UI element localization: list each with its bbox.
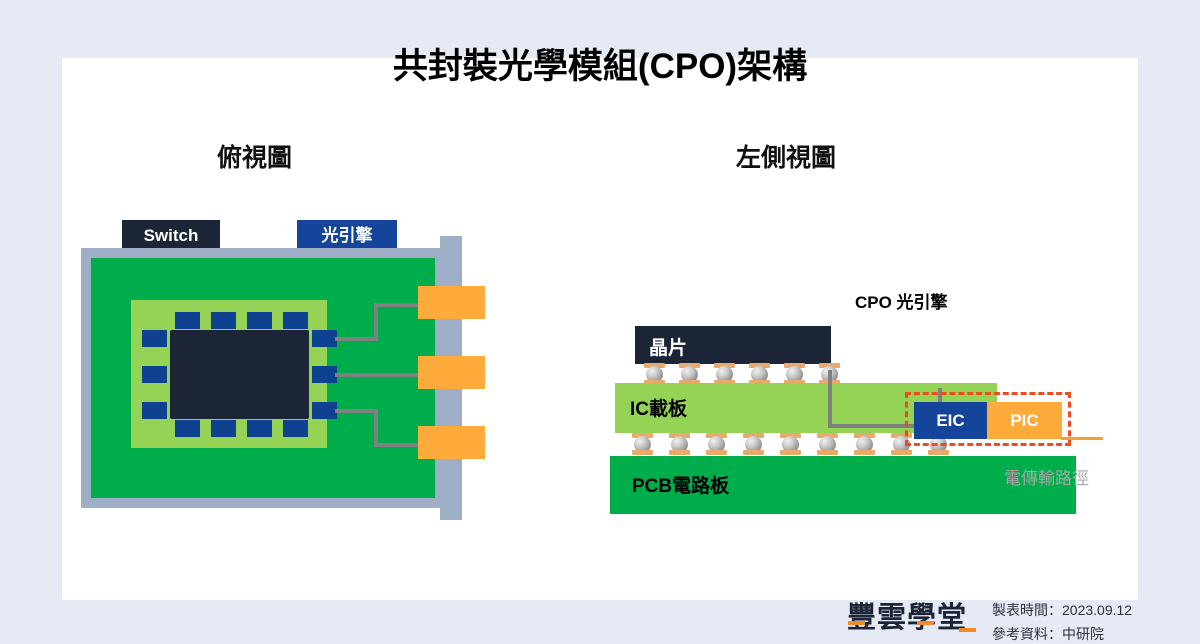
created-time-row: 製表時間：2023.09.12 [992, 600, 1132, 620]
bga-pad [142, 402, 167, 419]
created-time-value: 2023.09.12 [1062, 602, 1132, 618]
bga-pad [142, 366, 167, 383]
electrical-path-label: 電傳輸路徑 [1004, 464, 1089, 489]
solder-pad [817, 450, 838, 455]
solder-pad [891, 450, 912, 455]
top-view-title: 俯視圖 [217, 138, 292, 174]
solder-pad [706, 450, 727, 455]
brand-logo: 豐雲學堂 [847, 594, 967, 636]
optical-fiber-line [1061, 437, 1103, 440]
logo-accent-bar [917, 621, 934, 625]
electrical-trace [335, 373, 427, 377]
source-value: 中研院 [1062, 626, 1104, 642]
bga-pad [247, 420, 272, 437]
ic-substrate-label: IC載板 [630, 394, 687, 421]
side-view-title: 左側視圖 [736, 138, 836, 174]
bga-pad [211, 312, 236, 329]
eic-block: EIC [914, 402, 987, 439]
slide-card: 共封裝光學模組(CPO)架構 俯視圖 左側視圖 Switch 光引擎 [62, 58, 1138, 600]
bga-pad [312, 402, 337, 419]
optical-engine-block [418, 286, 485, 319]
page-title: 共封裝光學模組(CPO)架構 [62, 38, 1138, 89]
electrical-trace [335, 409, 378, 413]
solder-pad [854, 450, 875, 455]
optical-engine-block [418, 426, 485, 459]
bga-pad [175, 312, 200, 329]
switch-die [170, 330, 309, 419]
cpo-engine-caption: CPO 光引擎 [855, 288, 948, 313]
pic-block: PIC [987, 402, 1062, 439]
bga-pad [247, 312, 272, 329]
source-row: 參考資料：中研院 [992, 624, 1104, 644]
bga-pad [312, 366, 337, 383]
created-time-label: 製表時間： [992, 602, 1062, 618]
pcb-label: PCB電路板 [632, 471, 729, 498]
bga-pad [211, 420, 236, 437]
electrical-trace [374, 303, 378, 341]
bga-pad [312, 330, 337, 347]
solder-pad [743, 450, 764, 455]
electrical-trace [335, 337, 378, 341]
electrical-path-segment [828, 370, 832, 428]
solder-pad [669, 450, 690, 455]
solder-pad [632, 450, 653, 455]
bga-pad [175, 420, 200, 437]
logo-accent-bar [959, 628, 976, 632]
bga-pad [142, 330, 167, 347]
bga-pad [283, 312, 308, 329]
bga-pad [283, 420, 308, 437]
source-label: 參考資料： [992, 626, 1062, 642]
chip-block: 晶片 [635, 326, 831, 364]
solder-pad [780, 450, 801, 455]
chip-label: 晶片 [649, 333, 687, 360]
logo-accent-bar [848, 621, 865, 625]
optical-engine-block [418, 356, 485, 389]
solder-pad [928, 450, 949, 455]
electrical-trace [374, 409, 378, 447]
